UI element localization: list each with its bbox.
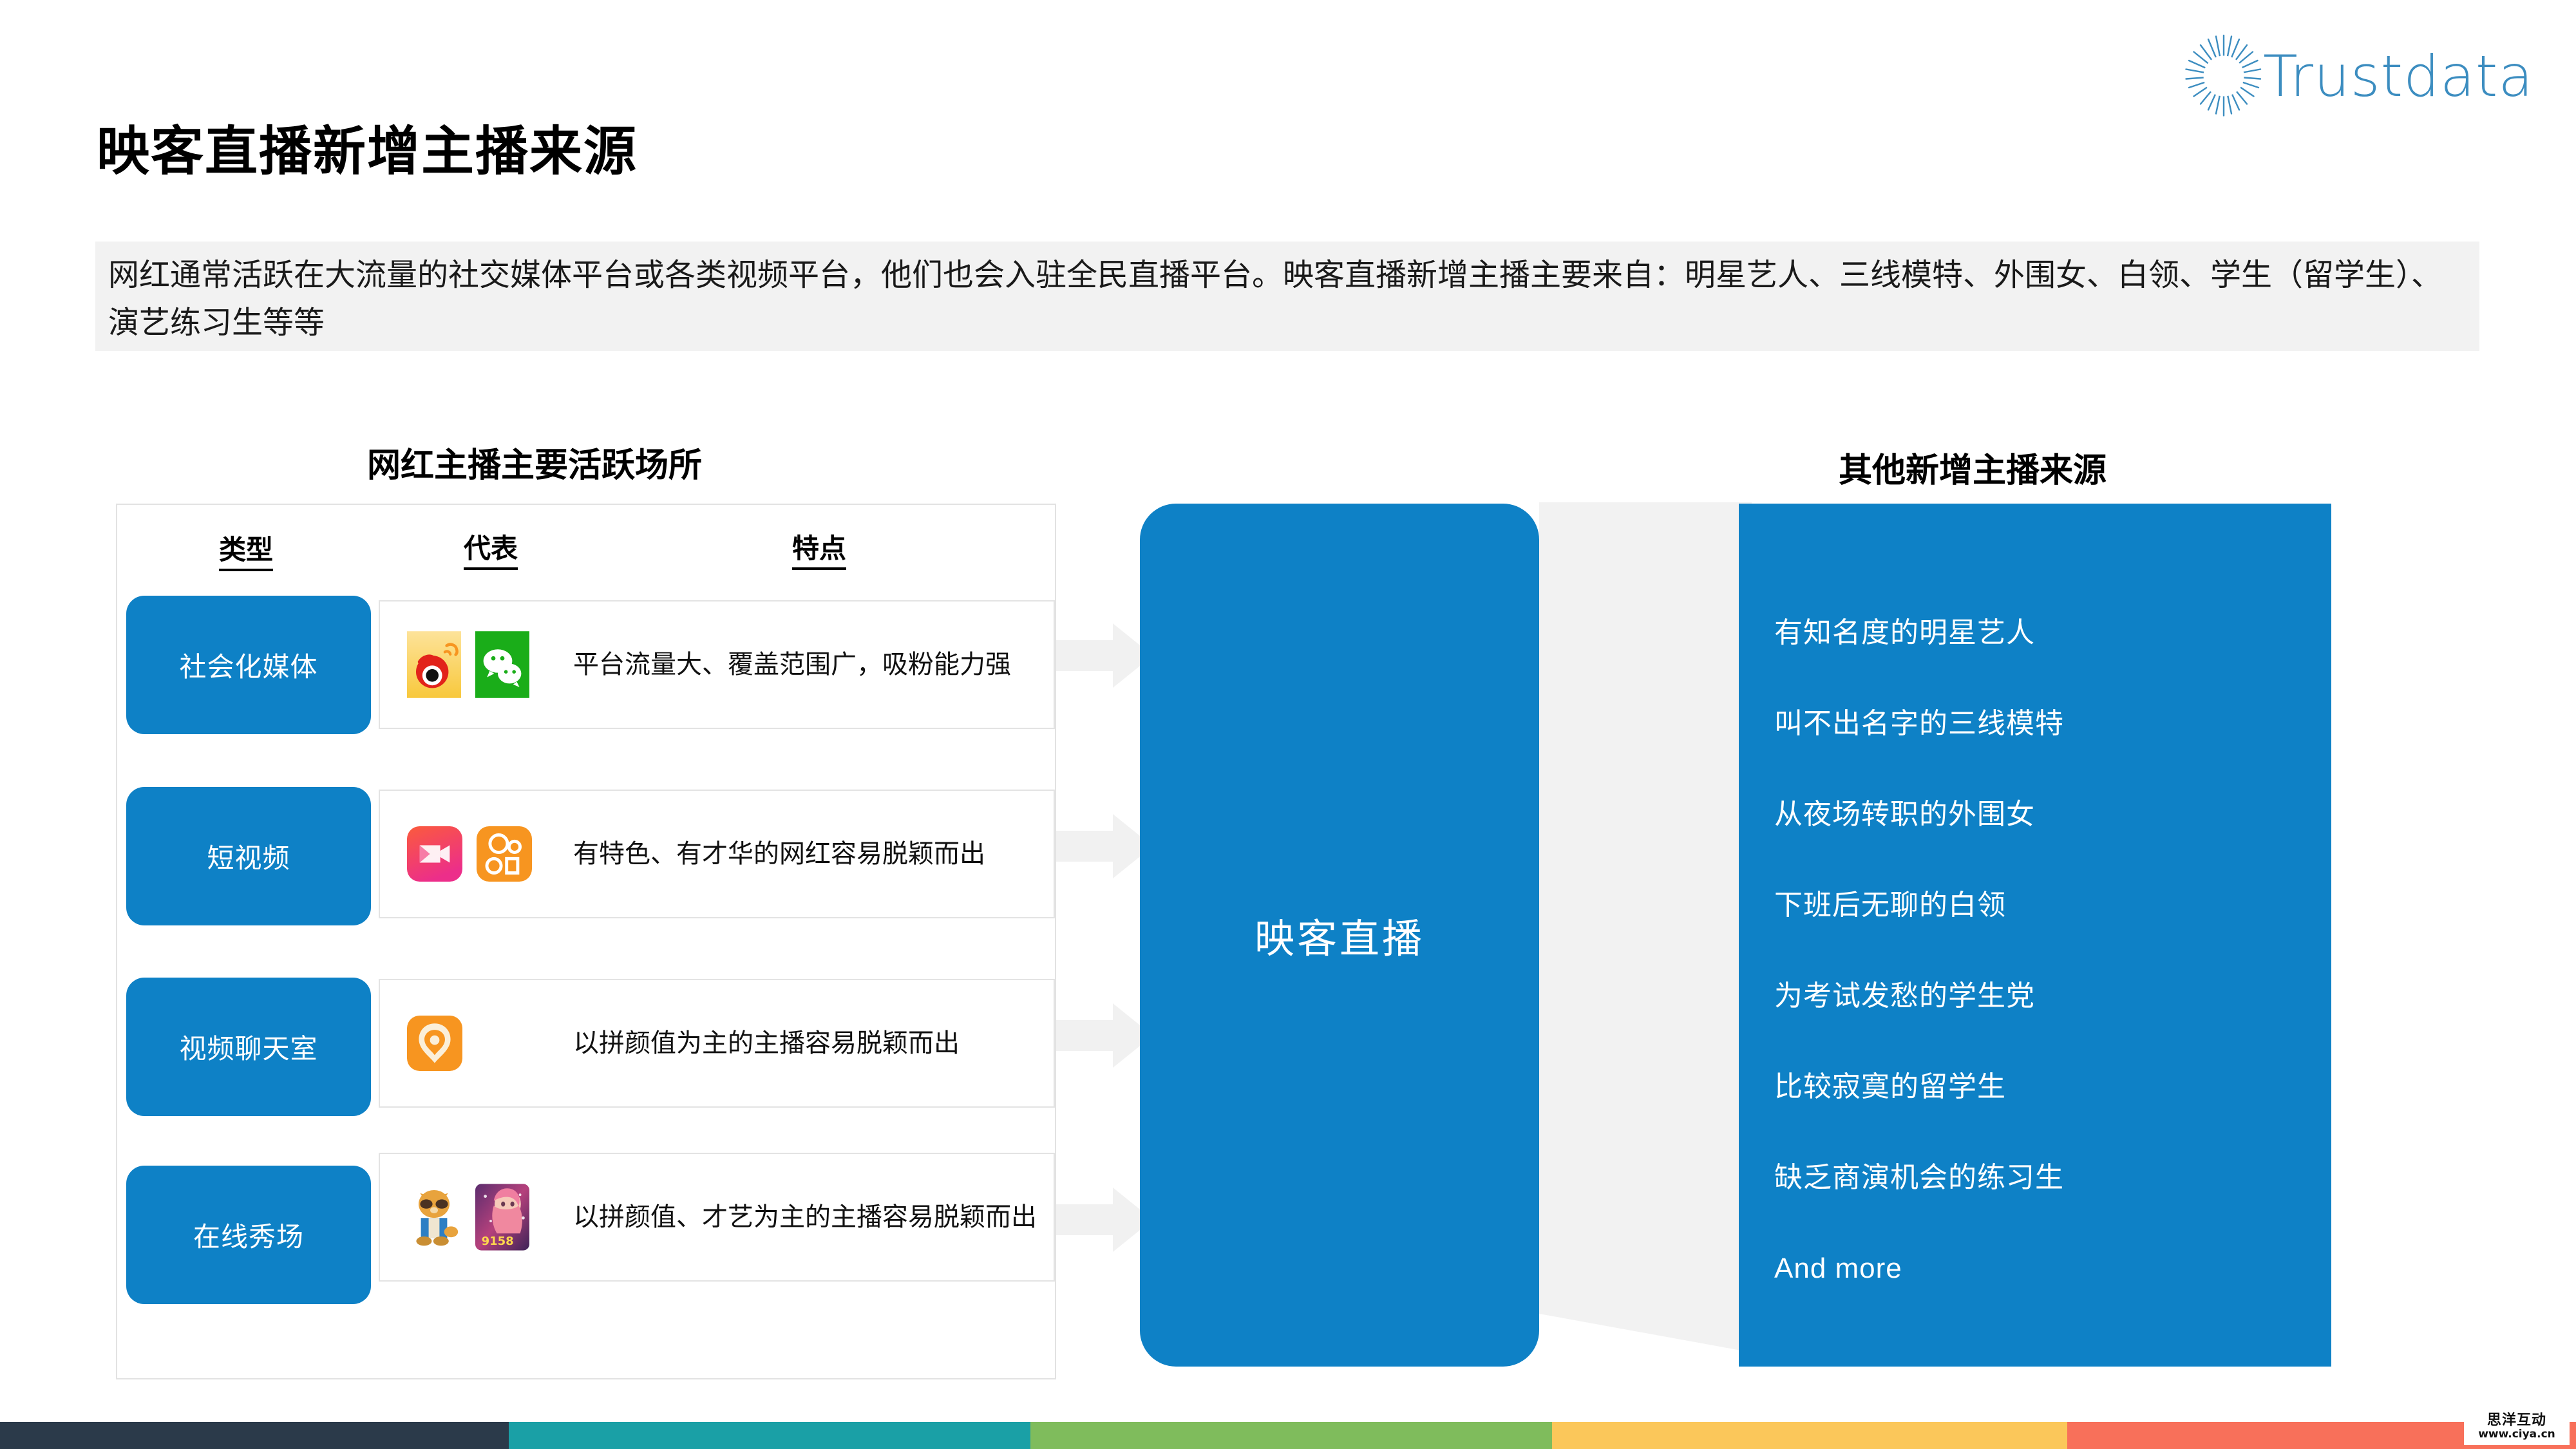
list-item: 叫不出名字的三线模特	[1774, 678, 2331, 769]
list-item: 下班后无聊的白领	[1774, 860, 2331, 951]
table-cell-feature: 有特色、有才华的网红容易脱颖而出	[573, 834, 994, 874]
list-item: 从夜场转职的外围女	[1774, 769, 2331, 860]
logo-wordmark: Trustdata	[2263, 43, 2533, 109]
list-item: And more	[1774, 1223, 2331, 1314]
sunburst-icon	[2175, 28, 2272, 124]
watermark: 思洋互动 www.ciya.cn	[2464, 1408, 2570, 1445]
column-header-feature: 特点	[792, 527, 846, 570]
wechat-icon	[475, 631, 529, 698]
flow-arrow-icon	[1056, 999, 1153, 1072]
list-item: 比较寂寞的留学生	[1774, 1041, 2331, 1132]
weibo-icon	[407, 631, 461, 698]
funnel-connector	[1539, 489, 1752, 1365]
table-row: 平台流量大、覆盖范围广，吸粉能力强	[379, 600, 1055, 729]
description-band: 网红通常活跃在大流量的社交媒体平台或各类视频平台，他们也会入驻全民直播平台。映客…	[95, 241, 2479, 351]
list-item: 为考试发愁的学生党	[1774, 951, 2331, 1041]
svg-text:9158: 9158	[482, 1235, 514, 1248]
table-row-type-chip[interactable]: 短视频	[126, 787, 371, 925]
table-cell-feature: 以拼颜值为主的主播容易脱颖而出	[573, 1023, 969, 1063]
flow-arrow-icon	[1056, 620, 1153, 692]
table-row-type-chip[interactable]: 视频聊天室	[126, 978, 371, 1116]
description-text: 网红通常活跃在大流量的社交媒体平台或各类视频平台，他们也会入驻全民直播平台。映客…	[108, 252, 2467, 347]
column-header-representative: 代表	[464, 527, 518, 570]
table-row: 有特色、有才华的网红容易脱颖而出	[379, 790, 1055, 918]
list-item: 缺乏商演机会的练习生	[1774, 1132, 2331, 1223]
bottom-color-bar	[0, 1422, 2576, 1449]
table-row: 9158 以拼颜值、才艺为主的主播容易脱颖而出	[379, 1153, 1055, 1282]
other-sources-panel: 有知名度的明星艺人 叫不出名字的三线模特 从夜场转职的外围女 下班后无聊的白领 …	[1739, 504, 2331, 1367]
bottom-bar-segment-2	[509, 1422, 1030, 1449]
momo-icon	[407, 1016, 462, 1071]
left-section-heading: 网红主播主要活跃场所	[367, 438, 702, 486]
page-title: 映客直播新增主播来源	[97, 108, 638, 185]
row-icon-group	[380, 1016, 573, 1071]
center-platform-block[interactable]: 映客直播	[1140, 504, 1539, 1367]
flow-arrow-icon	[1056, 810, 1153, 882]
table-row-type-chip[interactable]: 在线秀场	[126, 1166, 371, 1304]
right-section-heading: 其他新增主播来源	[1839, 443, 2107, 491]
flow-arrow-icon	[1056, 1184, 1153, 1256]
trustdata-logo: Trustdata	[2175, 24, 2543, 128]
watermark-cn: 思洋互动	[2487, 1413, 2546, 1427]
row-icon-group: 9158	[380, 1184, 573, 1251]
kuaishou-icon	[477, 826, 532, 882]
table-row-type-chip[interactable]: 社会化媒体	[126, 596, 371, 734]
bottom-bar-segment-1	[0, 1422, 509, 1449]
bottom-bar-segment-4	[1552, 1422, 2067, 1449]
watermark-url: www.ciya.cn	[2478, 1429, 2555, 1440]
column-header-type: 类型	[219, 528, 273, 571]
table-row: 以拼颜值为主的主播容易脱颖而出	[379, 979, 1055, 1108]
yy-icon	[407, 1184, 461, 1251]
meipai-icon	[407, 826, 462, 882]
bottom-bar-segment-3	[1030, 1422, 1552, 1449]
row-icon-group	[380, 631, 573, 698]
9158-icon: 9158	[475, 1184, 529, 1251]
row-icon-group	[380, 826, 573, 882]
table-cell-feature: 以拼颜值、才艺为主的主播容易脱颖而出	[573, 1197, 1046, 1237]
list-item: 有知名度的明星艺人	[1774, 587, 2331, 678]
center-platform-label: 映客直播	[1255, 906, 1425, 964]
table-cell-feature: 平台流量大、覆盖范围广，吸粉能力强	[573, 645, 1020, 685]
